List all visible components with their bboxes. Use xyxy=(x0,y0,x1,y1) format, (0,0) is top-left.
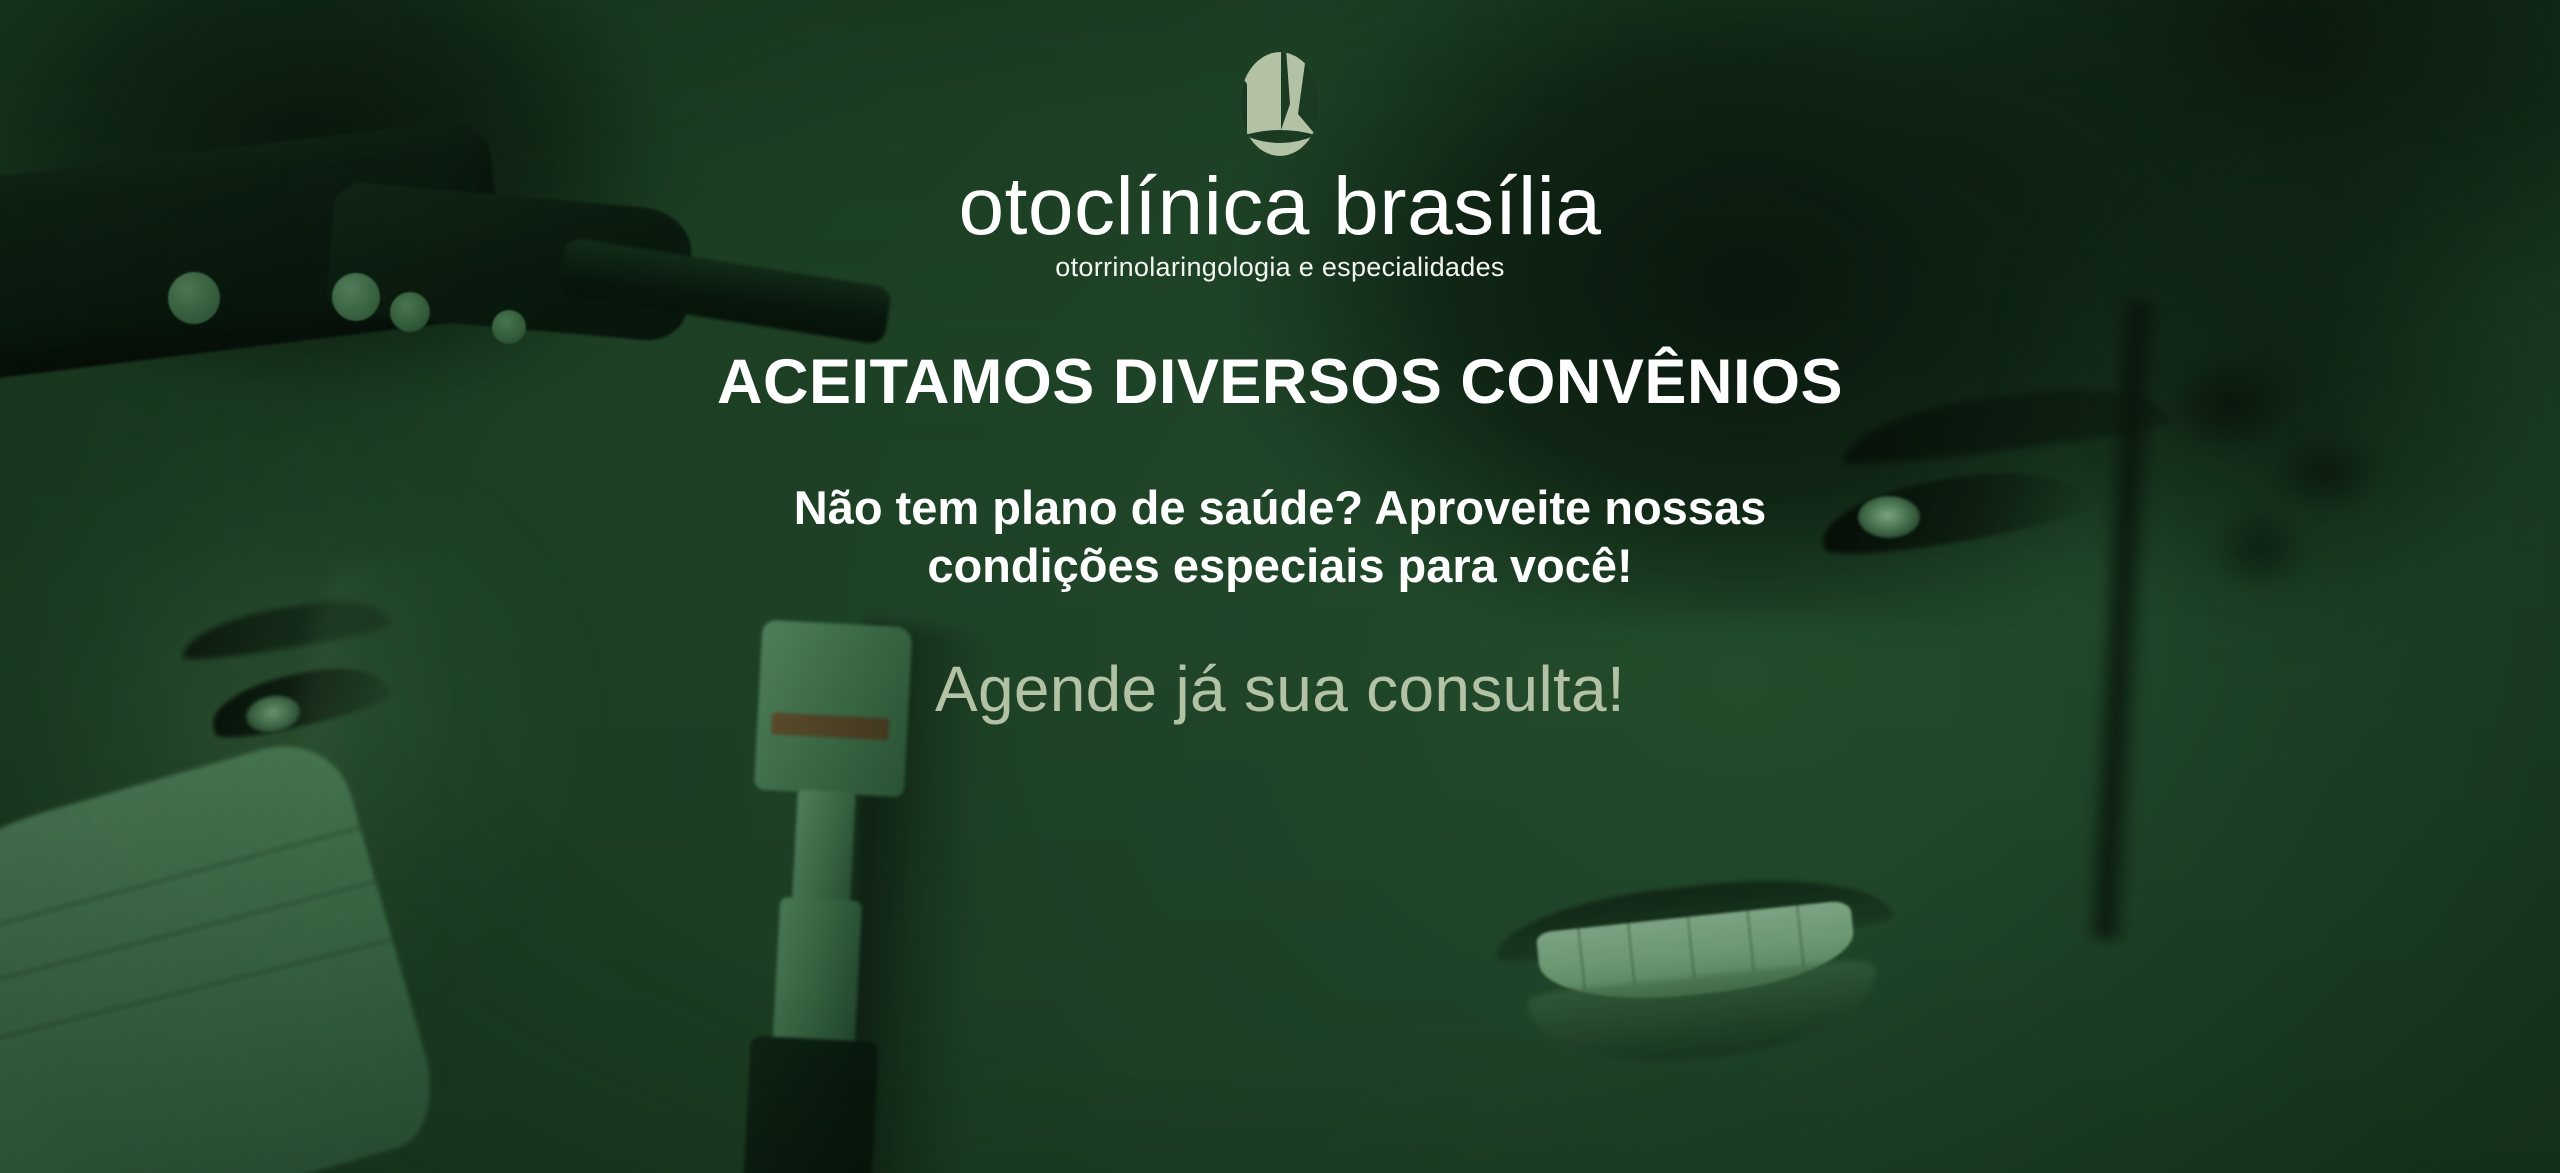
promotional-banner: otoclínica brasília otorrinolaringologia… xyxy=(0,0,2560,1173)
brand-logo[interactable]: otoclínica brasília otorrinolaringologia… xyxy=(958,44,1601,283)
hero-subheadline-line-1: Não tem plano de saúde? Aproveite nossas xyxy=(794,479,1766,536)
cta-text[interactable]: Agende já sua consulta! xyxy=(935,654,1625,724)
banner-content: otoclínica brasília otorrinolaringologia… xyxy=(0,0,2560,1173)
hero-subheadline: Não tem plano de saúde? Aproveite nossas… xyxy=(794,479,1766,594)
hero-headline: ACEITAMOS DIVERSOS CONVÊNIOS xyxy=(717,349,1843,415)
brand-name: otoclínica brasília xyxy=(958,166,1601,248)
brand-tagline: otorrinolaringologia e especialidades xyxy=(1055,252,1504,283)
otoclinica-ellipse-logo-icon xyxy=(1220,44,1340,164)
hero-subheadline-line-2: condições especiais para você! xyxy=(794,537,1766,594)
